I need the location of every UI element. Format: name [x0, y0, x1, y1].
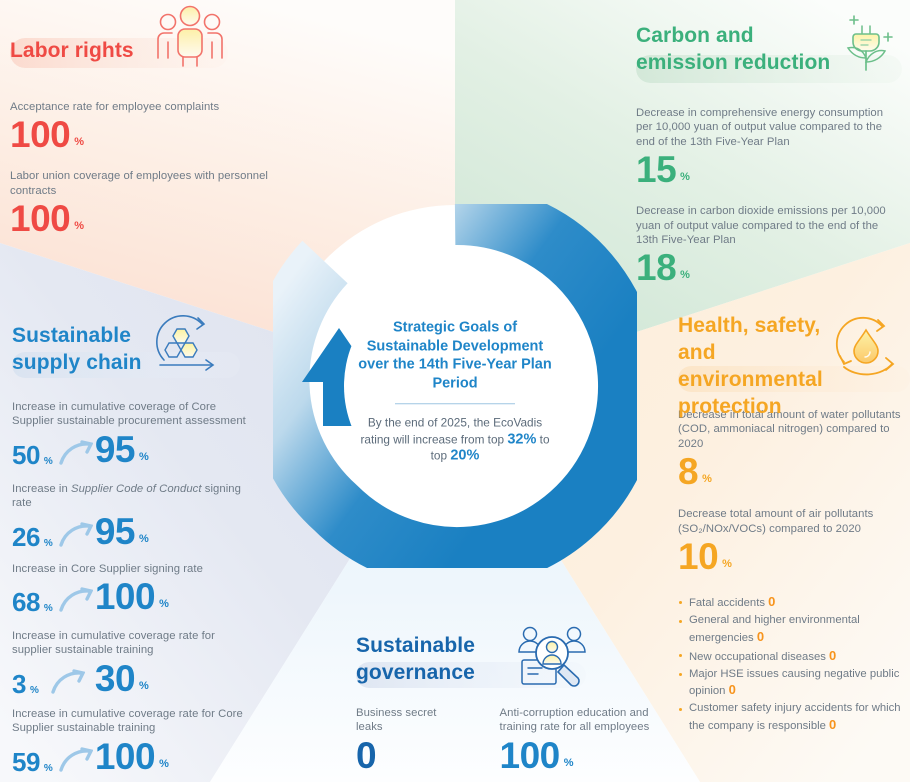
metric-to-value: 100 [95, 577, 155, 617]
metric-value: 0 [356, 736, 376, 776]
increase-arrow-icon [59, 522, 93, 548]
carbon-metric-0: Decrease in comprehensive energy consump… [636, 106, 902, 190]
metric-to: 30 % [95, 659, 149, 699]
metric-description: Increase in Core Supplier signing rate [12, 562, 252, 576]
metric-from-unit: % [44, 603, 53, 614]
metric-unit: % [74, 136, 84, 148]
three-people-icon [150, 2, 230, 72]
metric-description: Decrease in carbon dioxide emissions per… [636, 204, 902, 247]
desc-pre: Increase in [12, 483, 71, 495]
metric-to-unit: % [139, 451, 149, 463]
metric-description: Increase in cumulative coverage rate for… [12, 629, 252, 658]
metric-from-value: 50 [12, 441, 40, 470]
increase-arrow-icon [59, 440, 93, 466]
metric-from-unit: % [44, 456, 53, 467]
metric-from-unit: % [44, 538, 53, 549]
metric-from-value: 3 [12, 670, 26, 699]
bullet-value: 0 [729, 682, 736, 697]
labor-metric-1: Labor union coverage of employees with p… [10, 169, 270, 239]
hexagon-cycle-icon [144, 308, 224, 380]
heading-supply-chain: Sustainable supply chain [12, 322, 147, 376]
metric-description: Decrease total amount of air pollutants … [678, 507, 902, 536]
section-health-safety-environment: Health, safety, and environmental protec… [678, 312, 902, 736]
list-item: Fatal accidents 0 [678, 594, 902, 612]
metric-to-value: 30 [95, 659, 135, 699]
metric-to-unit: % [139, 680, 149, 692]
metric-value: 18 [636, 248, 676, 288]
bullet-text: New occupational diseases [689, 651, 826, 663]
metric-description: Increase in cumulative coverage of Core … [12, 400, 252, 429]
metric-to-value: 95 [95, 430, 135, 470]
metric-to: 95 % [95, 430, 149, 470]
metric-to-value: 100 [95, 737, 155, 777]
metric-description: Acceptance rate for employee complaints [10, 100, 270, 114]
metric-unit: % [722, 558, 732, 570]
metric-unit: % [564, 757, 574, 769]
desc-emphasis: Supplier Code of Conduct [71, 483, 202, 495]
metric-from: 68 % [12, 588, 53, 617]
supply-metric-4: Increase in cumulative coverage rate for… [12, 707, 252, 777]
metric-value: 100 [10, 199, 70, 239]
metric-from-value: 68 [12, 588, 40, 617]
metric-from-value: 26 [12, 523, 40, 552]
metric-from: 59 % [12, 748, 53, 777]
hse-metric-0: Decrease in total amount of water pollut… [678, 408, 902, 492]
list-item: Customer safety injury accidents for whi… [678, 701, 902, 734]
list-item: Major HSE issues causing negative public… [678, 667, 902, 700]
bullet-text: Customer safety injury accidents for whi… [689, 702, 901, 732]
section-labor-rights: Labor rights Acceptanc [10, 30, 270, 239]
metric-description: Business secret leaks [356, 706, 466, 735]
governance-metric-1: Anti-corruption education and training r… [500, 706, 656, 776]
heading-governance: Sustainable governance [356, 632, 486, 686]
metric-to-unit: % [159, 598, 169, 610]
metric-to-unit: % [159, 758, 169, 770]
bullet-value: 0 [768, 594, 775, 609]
metric-from: 26 % [12, 523, 53, 552]
metric-unit: % [702, 473, 712, 485]
metric-description: Increase in Supplier Code of Conduct sig… [12, 482, 252, 511]
increase-arrow-icon [51, 669, 85, 695]
section-sustainable-supply-chain: Sustainable supply chain Increase in cum [12, 322, 252, 777]
metric-from: 3 % [12, 670, 39, 699]
center-value-to: 20% [450, 447, 479, 463]
heading-hse: Health, safety, and environmental protec… [678, 312, 848, 420]
metric-from-value: 59 [12, 748, 40, 777]
center-text-block: Strategic Goals of Sustainable Developme… [355, 318, 555, 464]
supply-metric-1: Increase in Supplier Code of Conduct sig… [12, 482, 252, 552]
metric-unit: % [680, 269, 690, 281]
increase-arrow-icon [59, 587, 93, 613]
center-title: Strategic Goals of Sustainable Developme… [355, 318, 555, 392]
metric-description: Anti-corruption education and training r… [500, 706, 656, 735]
increase-arrow-icon [59, 747, 93, 773]
supply-metric-3: Increase in cumulative coverage rate for… [12, 629, 252, 699]
metric-value: 10 [678, 537, 718, 577]
metric-value: 100 [500, 736, 560, 776]
heading-labor-rights: Labor rights [10, 30, 134, 64]
labor-metric-0: Acceptance rate for employee complaints … [10, 100, 270, 155]
supply-metric-0: Increase in cumulative coverage of Core … [12, 400, 252, 470]
list-item: New occupational diseases 0 [678, 648, 902, 666]
center-subtitle: By the end of 2025, the EcoVadis rating … [355, 414, 555, 464]
metric-value: 100 [10, 115, 70, 155]
metric-from: 50 % [12, 441, 53, 470]
supply-metric-2: Increase in Core Supplier signing rate 6… [12, 562, 252, 617]
section-sustainable-governance: Sustainable governance [356, 632, 656, 776]
metric-description: Increase in cumulative coverage rate for… [12, 707, 252, 736]
carbon-metric-1: Decrease in carbon dioxide emissions per… [636, 204, 902, 288]
bullet-value: 0 [757, 629, 764, 644]
bullet-value: 0 [829, 648, 836, 663]
people-magnifier-icon [504, 622, 596, 694]
hse-bullet-list: Fatal accidents 0 General and higher env… [678, 594, 902, 734]
governance-metric-0: Business secret leaks 0 [356, 706, 466, 776]
metric-value: 15 [636, 150, 676, 190]
metric-description: Decrease in comprehensive energy consump… [636, 106, 902, 149]
infographic-canvas: Strategic Goals of Sustainable Developme… [0, 0, 910, 782]
center-value-from: 32% [507, 431, 536, 447]
center-divider [395, 403, 515, 404]
metric-to-value: 95 [95, 512, 135, 552]
bullet-text: Major HSE issues causing negative public… [689, 668, 899, 698]
metric-from-unit: % [44, 763, 53, 774]
list-item: General and higher environmental emergen… [678, 613, 902, 646]
metric-unit: % [74, 220, 84, 232]
metric-to: 100 % [95, 577, 169, 617]
bullet-text: General and higher environmental emergen… [689, 614, 860, 644]
metric-to: 95 % [95, 512, 149, 552]
heading-carbon: Carbon and emission reduction [636, 22, 851, 76]
metric-from-unit: % [30, 685, 39, 696]
metric-description: Labor union coverage of employees with p… [10, 169, 270, 198]
bullet-text: Fatal accidents [689, 597, 765, 609]
metric-unit: % [680, 171, 690, 183]
bullet-value: 0 [829, 717, 836, 732]
section-carbon-emission-reduction: Carbon and emission reduction D [636, 22, 902, 288]
metric-to: 100 % [95, 737, 169, 777]
metric-value: 8 [678, 452, 698, 492]
hse-metric-1: Decrease total amount of air pollutants … [678, 507, 902, 577]
metric-to-unit: % [139, 533, 149, 545]
